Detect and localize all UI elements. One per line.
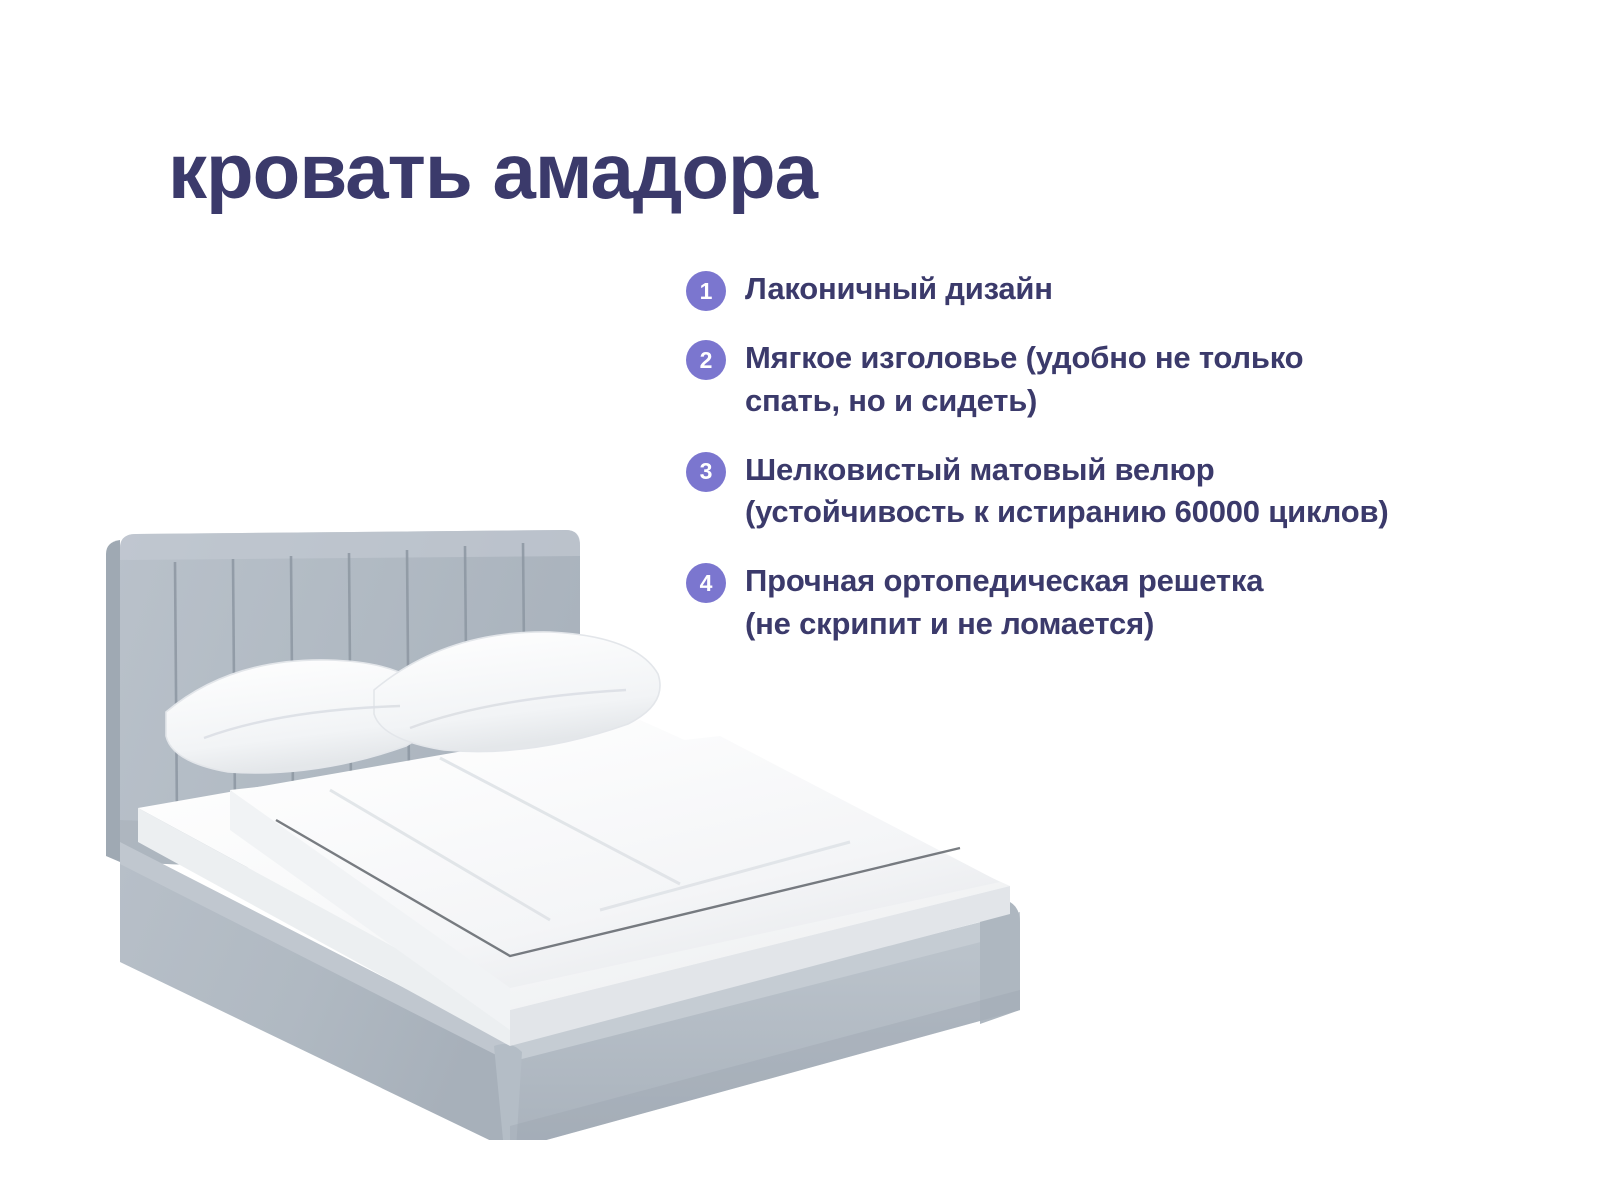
- page-title: кровать амадора: [168, 131, 817, 213]
- bed-illustration: [80, 490, 1090, 1140]
- list-item-badge-2: 2: [686, 340, 726, 380]
- infographic-page: кровать амадора 1 Лаконичный дизайн 2 Мя…: [0, 0, 1600, 1200]
- list-item: 1 Лаконичный дизайн: [686, 268, 1516, 311]
- list-item-badge-1: 1: [686, 271, 726, 311]
- list-item-line: Мягкое изголовье (удобно не только: [745, 337, 1303, 380]
- product-image-bed: [80, 490, 1090, 1140]
- list-item-line: Шелковистый матовый велюр: [745, 449, 1388, 492]
- list-item-line: спать, но и сидеть): [745, 380, 1303, 423]
- list-item: 2 Мягкое изголовье (удобно не только спа…: [686, 337, 1516, 423]
- list-item-text-1: Лаконичный дизайн: [745, 268, 1053, 311]
- list-item-badge-3: 3: [686, 452, 726, 492]
- list-item-text-2: Мягкое изголовье (удобно не только спать…: [745, 337, 1303, 423]
- headboard-left-edge: [106, 540, 120, 862]
- list-item-line: Лаконичный дизайн: [745, 268, 1053, 311]
